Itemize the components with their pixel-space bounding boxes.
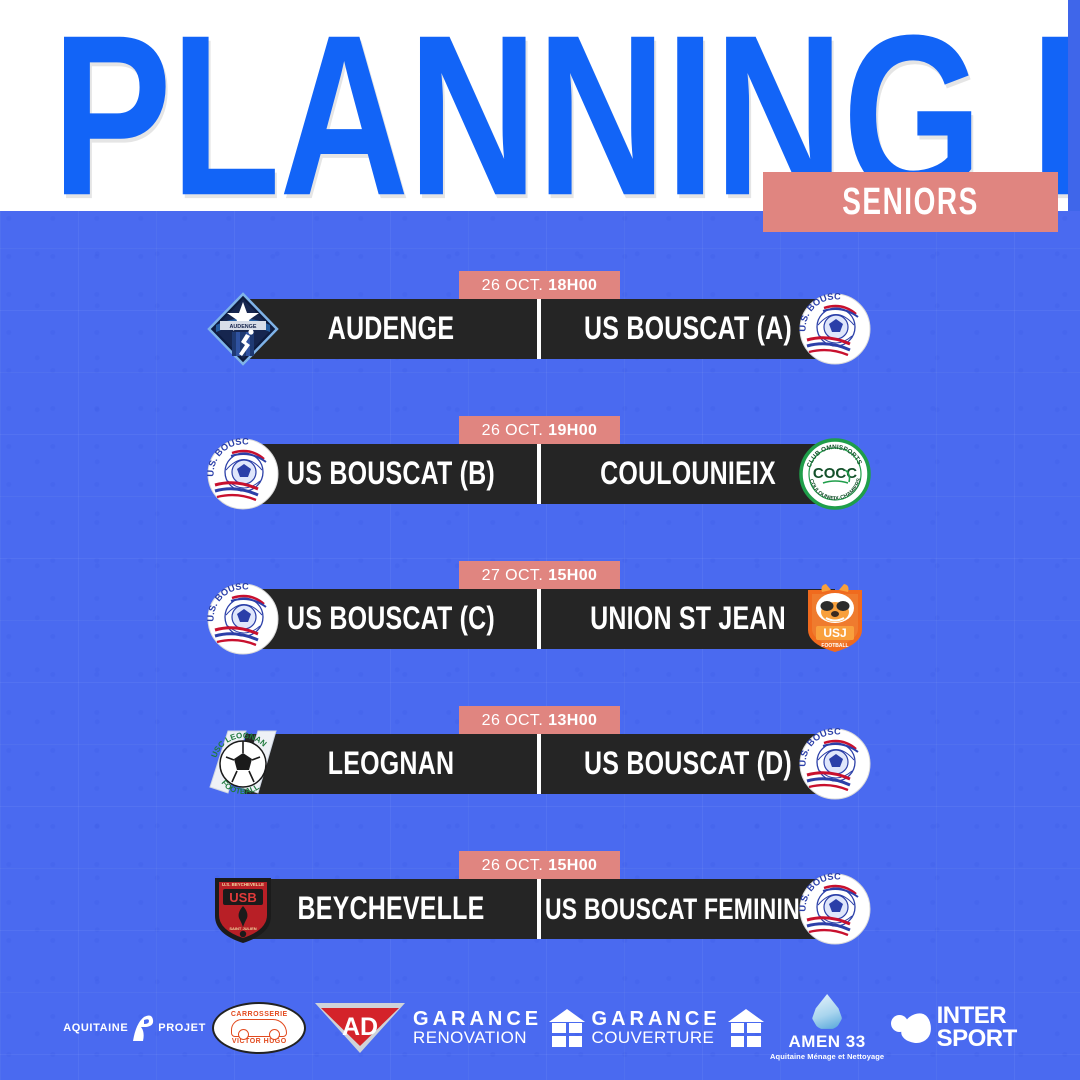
home-team: AUDENGE [245, 299, 537, 359]
match-time: 15H00 [548, 857, 597, 875]
match-time: 19H00 [548, 422, 597, 440]
svg-text:U.S. BEYCHEVELLE: U.S. BEYCHEVELLE [222, 882, 264, 887]
sponsor-garance-couverture: GARANCE COUVERTURE [592, 1009, 764, 1047]
match-bar: AUDENGE US BOUSCAT (A) [245, 299, 835, 359]
us-bouscat-crest: U.S. BOUSCAT [798, 872, 872, 946]
match-row[interactable]: 26 OCT. 15H00 BEYCHEVELLE US BOUSCAT FEM… [0, 851, 1080, 969]
match-time: 15H00 [548, 567, 597, 585]
match-date: 26 OCT. [482, 422, 544, 440]
garance-couverture-line2: COUVERTURE [592, 1029, 721, 1046]
audenge-crest: AUDENGE [206, 292, 280, 366]
sponsor-carrosserie-victor-hugo: CARROSSERIE VICTOR HUGO [212, 1002, 306, 1054]
match-time: 13H00 [548, 712, 597, 730]
aquitaine-logo-icon [130, 1011, 156, 1045]
sponsor-garance-renovation: GARANCE RENOVATION [413, 1009, 585, 1047]
match-bar: LEOGNAN US BOUSCAT (D) [245, 734, 835, 794]
sponsor-intersport: INTER SPORT [891, 1005, 1017, 1051]
us-bouscat-crest: U.S. BOUSCAT [798, 292, 872, 366]
svg-text:FOOTBALL: FOOTBALL [821, 643, 848, 649]
usc-leognan-crest: USC LEOGNAN FOOTBALL [206, 727, 280, 801]
us-bouscat-crest: U.S. BOUSCAT [206, 437, 280, 511]
home-team: US BOUSCAT (C) [245, 589, 537, 649]
home-team: US BOUSCAT (B) [245, 444, 537, 504]
match-datetime-badge: 26 OCT. 15H00 [459, 851, 620, 880]
sponsor-aquitaine-word1: AQUITAINE [63, 1022, 128, 1034]
match-bar: BEYCHEVELLE US BOUSCAT FEMININES [245, 879, 835, 939]
home-team: LEOGNAN [245, 734, 537, 794]
union-st-jean-crest: USJ FOOTBALL [798, 582, 872, 656]
match-datetime-badge: 26 OCT. 19H00 [459, 416, 620, 445]
svg-text:USB: USB [229, 890, 256, 905]
car-icon [231, 1019, 287, 1037]
svg-text:USJ: USJ [823, 626, 846, 640]
match-datetime-badge: 27 OCT. 15H00 [459, 561, 620, 590]
away-team: US BOUSCAT (D) [541, 734, 835, 794]
amen-line2: Aquitaine Ménage et Nettoyage [770, 1052, 884, 1061]
cocc-coulounieix-crest: CLUB OMNISPORTS COULOUNIEIX-CHAMIERS COC… [798, 437, 872, 511]
ad-label: AD [342, 1013, 378, 1041]
match-row[interactable]: 26 OCT. 13H00 LEOGNAN US BOUSCAT (D) USC… [0, 706, 1080, 824]
match-datetime-badge: 26 OCT. 18H00 [459, 271, 620, 300]
amen-line1: AMEN 33 [789, 1032, 866, 1052]
match-row[interactable]: 26 OCT. 18H00 AUDENGE US BOUSCAT (A) AUD… [0, 271, 1080, 389]
match-row[interactable]: 26 OCT. 19H00 US BOUSCAT (B) COULOUNIEIX [0, 416, 1080, 534]
sponsor-aquitaine-word2: PROJET [158, 1022, 206, 1034]
svg-text:COCC: COCC [813, 465, 857, 482]
sponsor-amen-33: AMEN 33 Aquitaine Ménage et Nettoyage [770, 994, 884, 1061]
match-date: 26 OCT. [482, 857, 544, 875]
match-date: 27 OCT. [482, 567, 544, 585]
match-time: 18H00 [548, 277, 597, 295]
match-date: 26 OCT. [482, 277, 544, 295]
away-team: US BOUSCAT (A) [541, 299, 835, 359]
match-bar: US BOUSCAT (C) UNION ST JEAN [245, 589, 835, 649]
garance-renovation-line1: GARANCE [413, 1009, 542, 1029]
match-list: 26 OCT. 18H00 AUDENGE US BOUSCAT (A) AUD… [0, 211, 1080, 951]
match-bar: US BOUSCAT (B) COULOUNIEIX [245, 444, 835, 504]
us-bouscat-crest: U.S. BOUSCAT [798, 727, 872, 801]
match-row[interactable]: 27 OCT. 15H00 US BOUSCAT (C) UNION ST JE… [0, 561, 1080, 679]
carrosserie-top-text: CARROSSERIE [231, 1011, 288, 1018]
header-right-stripe [1068, 0, 1080, 211]
away-team: US BOUSCAT FEMININES [541, 879, 835, 939]
category-badge: SENIORS [763, 172, 1058, 232]
match-date: 26 OCT. [482, 712, 544, 730]
sponsor-strip: AQUITAINE PROJET CARROSSERIE VICTOR HUGO… [0, 975, 1080, 1080]
intersport-swoosh-icon [891, 1009, 931, 1047]
away-team: UNION ST JEAN [541, 589, 835, 649]
house-icon [549, 1009, 585, 1047]
sponsor-aquitaine-projet: AQUITAINE PROJET [63, 1011, 206, 1045]
svg-text:SAINT JULIEN: SAINT JULIEN [229, 926, 256, 931]
house-icon [728, 1009, 764, 1047]
match-datetime-badge: 26 OCT. 13H00 [459, 706, 620, 735]
water-drop-icon [812, 994, 842, 1030]
away-team: COULOUNIEIX [541, 444, 835, 504]
category-badge-label: SENIORS [842, 180, 979, 223]
home-team: BEYCHEVELLE [245, 879, 537, 939]
garance-renovation-line2: RENOVATION [413, 1029, 542, 1046]
svg-text:AUDENGE: AUDENGE [230, 324, 257, 330]
us-bouscat-crest: U.S. BOUSCAT [206, 582, 280, 656]
sponsor-ad: AD [313, 1000, 407, 1056]
intersport-line2: SPORT [937, 1028, 1017, 1051]
garance-couverture-line1: GARANCE [592, 1009, 721, 1029]
beychevelle-usb-crest: U.S. BEYCHEVELLE USB SAINT JULIEN [206, 872, 280, 946]
